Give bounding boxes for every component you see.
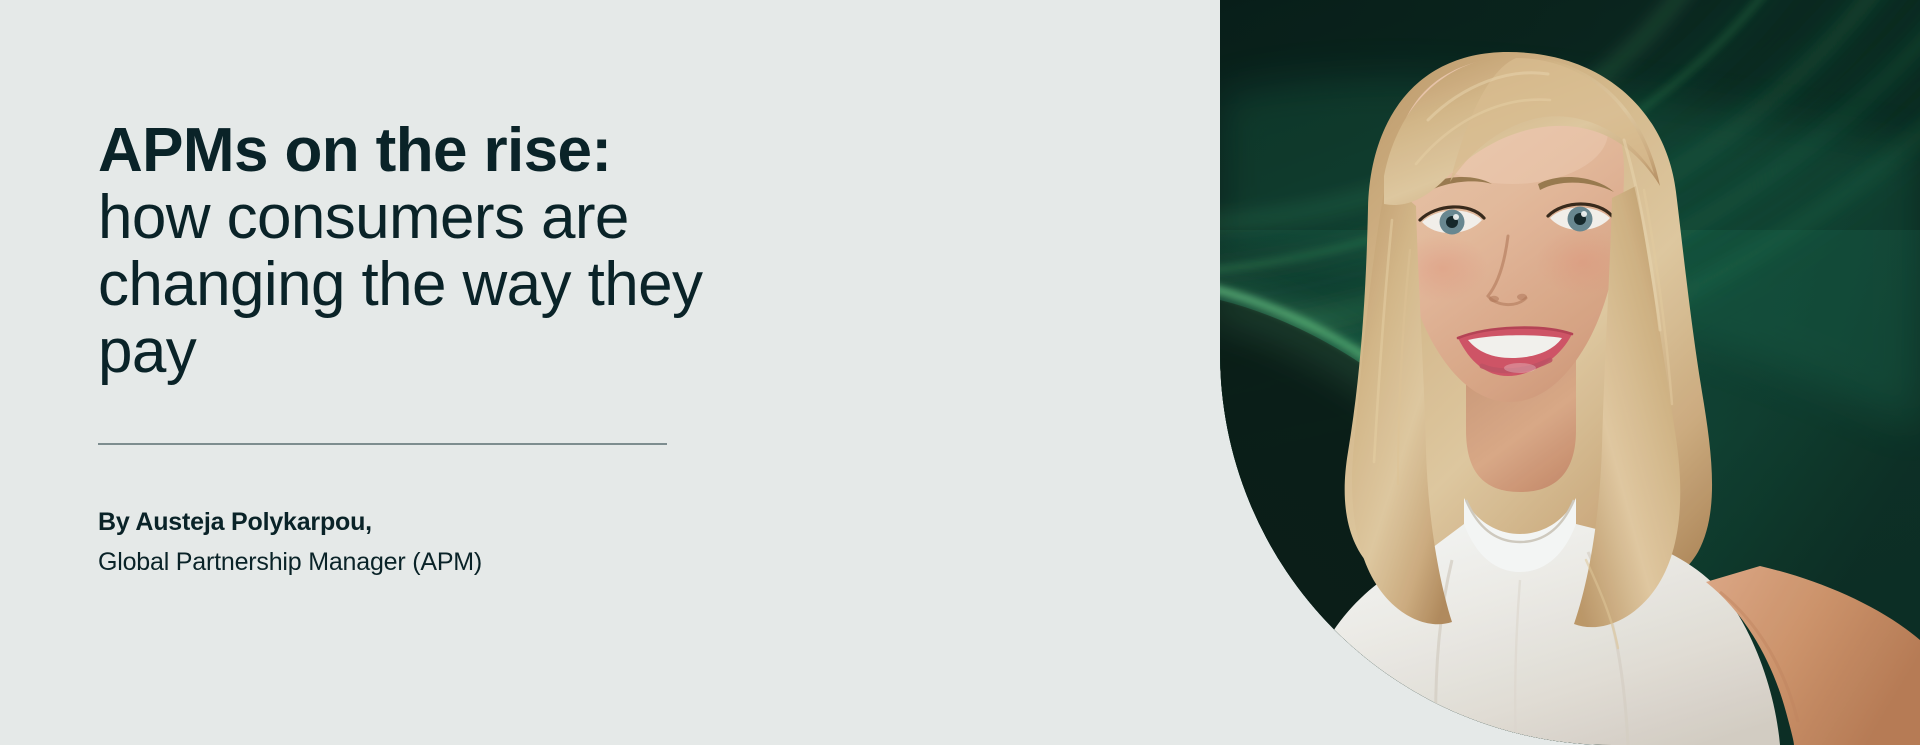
page-title: APMs on the rise: how consumers are chan… [98,117,718,385]
headline-rest: how consumers are changing the way they … [98,183,702,386]
author-photo-panel [1220,0,1920,745]
article-hero-banner: APMs on the rise: how consumers are chan… [0,0,1920,745]
headline-lead: APMs on the rise: [98,116,611,185]
divider [98,443,667,445]
author-photo [1220,0,1920,745]
byline-author-role: Global Partnership Manager (APM) [98,542,738,582]
byline-author-name: By Austeja Polykarpou, [98,502,738,542]
byline: By Austeja Polykarpou, Global Partnershi… [98,502,738,582]
hero-text-column: APMs on the rise: how consumers are chan… [0,0,1220,745]
